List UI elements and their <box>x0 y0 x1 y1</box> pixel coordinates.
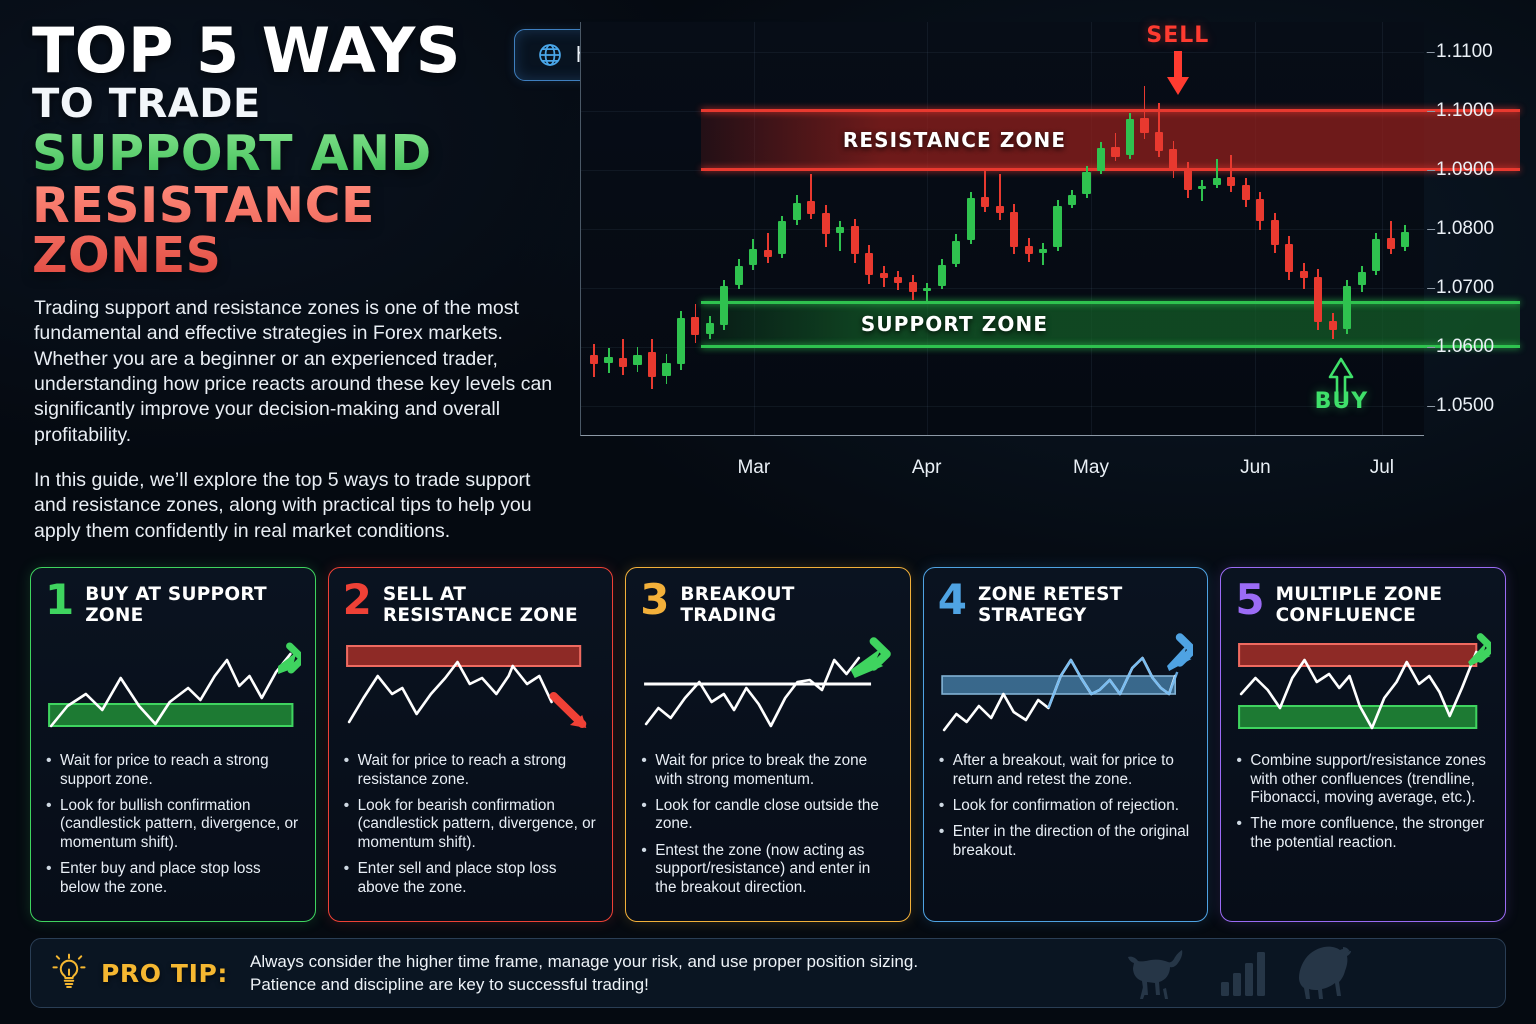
candle-body <box>764 250 772 257</box>
card-bullet: Enter in the direction of the original b… <box>938 823 1194 860</box>
candle-body <box>1213 178 1221 185</box>
card-bullet-list: Wait for price to reach a strong resista… <box>343 752 599 904</box>
chart-gridline-h <box>581 229 1424 230</box>
candle-body <box>1271 220 1279 245</box>
card-bullet: Enter buy and place stop loss below the … <box>45 860 301 897</box>
chart-x-tick: Apr <box>912 457 942 479</box>
candle-body <box>981 197 989 208</box>
chart-y-tick: 1.0900 <box>1436 159 1494 181</box>
intro-paragraph-2: In this guide, we’ll explore the top 5 w… <box>34 468 562 544</box>
chart-gridline-h <box>581 406 1424 407</box>
candle-body <box>938 265 946 286</box>
card-mini-chart <box>343 632 599 744</box>
candle-body <box>1039 249 1047 254</box>
zone-edge <box>701 301 1520 304</box>
candle-body <box>1300 271 1308 278</box>
headline-line-2: TO TRADE <box>32 84 552 125</box>
card-bullet: Look for confirmation of rejection. <box>938 797 1194 815</box>
candle-body <box>894 277 902 283</box>
strategy-card-1[interactable]: 1BUY AT SUPPORT ZONE Wait for price to r… <box>30 567 316 922</box>
chart-x-tick: Jun <box>1240 457 1271 479</box>
card-mini-chart <box>938 632 1194 744</box>
card-bullet: Wait for price to reach a strong resista… <box>343 752 599 789</box>
candle-body <box>1329 321 1337 330</box>
card-title: MULTIPLE ZONE CONFLUENCE <box>1276 582 1491 626</box>
candle-body <box>1169 149 1177 170</box>
card-header: 2SELL AT RESISTANCE ZONE <box>343 582 599 626</box>
strategy-card-4[interactable]: 4ZONE RETEST STRATEGY After a breakout, … <box>923 567 1209 922</box>
candle-body <box>720 286 728 325</box>
candle-body <box>1097 148 1105 170</box>
strategy-card-list: 1BUY AT SUPPORT ZONE Wait for price to r… <box>30 567 1506 922</box>
chart-x-tick: Jul <box>1370 457 1394 479</box>
strategy-card-3[interactable]: 3BREAKOUT TRADING Wait for price to brea… <box>625 567 911 922</box>
card-bullet: Look for bearish confirmation (candlesti… <box>343 797 599 852</box>
candle-body <box>749 249 757 266</box>
headline-line-3: SUPPORT AND <box>32 129 552 179</box>
headline-block: TOP 5 WAYS TO TRADE SUPPORT AND RESISTAN… <box>32 22 552 281</box>
chart-gridline-v <box>1382 22 1383 435</box>
chart-y-tick: 1.0700 <box>1436 277 1494 299</box>
candle-wick <box>926 283 928 304</box>
card-header: 1BUY AT SUPPORT ZONE <box>45 582 301 626</box>
card-bullet-list: Wait for price to break the zone with st… <box>640 752 896 904</box>
zone-edge <box>701 168 1520 171</box>
candle-body <box>1242 185 1250 200</box>
card-bullet: Combine support/resistance zones with ot… <box>1235 752 1491 807</box>
candle-body <box>619 358 627 366</box>
candle-body <box>677 318 685 364</box>
candle-body <box>1082 172 1090 194</box>
candle-body <box>1343 286 1351 328</box>
pro-tip-bar: PRO TIP: Always consider the higher time… <box>30 938 1506 1008</box>
card-bullet: Wait for price to break the zone with st… <box>640 752 896 789</box>
chart-gridline-v <box>1255 22 1256 435</box>
card-title: SELL AT RESISTANCE ZONE <box>383 582 598 626</box>
headline-line-1: TOP 5 WAYS <box>32 22 552 80</box>
card-mini-chart <box>45 632 301 744</box>
bar-chart-icon <box>1219 948 1265 998</box>
globe-icon <box>537 42 563 68</box>
candle-body <box>735 266 743 285</box>
chart-x-tick: May <box>1073 457 1109 479</box>
pro-tip-text: Always consider the higher time frame, m… <box>250 950 918 997</box>
card-title: BUY AT SUPPORT ZONE <box>85 582 300 626</box>
chart-gridline-v <box>927 22 928 435</box>
lightbulb-icon <box>51 953 87 993</box>
candle-body <box>1025 246 1033 254</box>
card-bullet-list: Wait for price to reach a strong support… <box>45 752 301 904</box>
chart-y-tick: 1.1100 <box>1436 41 1493 63</box>
candle-body <box>967 198 975 240</box>
candle-body <box>822 213 830 234</box>
card-bullet: Enter sell and place stop loss above the… <box>343 860 599 897</box>
zone-edge <box>701 345 1520 348</box>
card-title: BREAKOUT TRADING <box>680 582 895 626</box>
card-bullet-list: Combine support/resistance zones with ot… <box>1235 752 1491 860</box>
candle-body <box>778 221 786 254</box>
card-number: 4 <box>938 582 967 619</box>
candle-body <box>793 203 801 221</box>
candle-body <box>1314 277 1322 322</box>
card-header: 4ZONE RETEST STRATEGY <box>938 582 1194 626</box>
candle-body <box>706 323 714 334</box>
candle-body <box>1184 170 1192 190</box>
candle-body <box>1227 177 1235 186</box>
candle-wick <box>1042 243 1044 265</box>
card-bullet-list: After a breakout, wait for price to retu… <box>938 752 1194 868</box>
candle-body <box>836 227 844 233</box>
sell-arrow-icon <box>1165 51 1191 97</box>
candle-body <box>1155 132 1163 151</box>
card-bullet: Look for candle close outside the zone. <box>640 797 896 834</box>
candle-body <box>1358 272 1366 285</box>
intro-paragraph-1: Trading support and resistance zones is … <box>34 296 562 448</box>
candle-body <box>691 317 699 335</box>
candle-body <box>909 282 917 293</box>
candle-body <box>590 355 598 364</box>
card-number: 2 <box>343 582 372 619</box>
intro-text-block: Trading support and resistance zones is … <box>34 296 562 564</box>
headline-line-4: RESISTANCE ZONES <box>32 181 552 281</box>
candle-body <box>662 363 670 376</box>
bull-icon <box>1123 945 1195 1001</box>
candle-wick <box>999 174 1001 220</box>
pro-tip-label: PRO TIP: <box>101 959 228 988</box>
chart-y-tick: 1.1000 <box>1436 100 1494 122</box>
candle-body <box>1053 206 1061 247</box>
pro-tip-line-2: Patience and discipline are key to succe… <box>250 973 918 996</box>
strategy-card-2[interactable]: 2SELL AT RESISTANCE ZONE Wait for price … <box>328 567 614 922</box>
card-bullet: Look for bullish confirmation (candlesti… <box>45 797 301 852</box>
candle-body <box>648 352 656 377</box>
candle-body <box>1372 239 1380 271</box>
candle-body <box>1285 244 1293 272</box>
candle-body <box>1256 199 1264 221</box>
chart-gridline-v <box>1091 22 1092 435</box>
zone-label: RESISTANCE ZONE <box>581 128 1328 152</box>
candle-body <box>1387 238 1395 249</box>
chart-y-tick: 1.0600 <box>1436 336 1494 358</box>
buy-arrow-icon <box>1328 357 1354 403</box>
card-bullet: The more confluence, the stronger the po… <box>1235 815 1491 852</box>
chart-plot-area: RESISTANCE ZONESUPPORT ZONE1.11001.10001… <box>580 22 1424 436</box>
pro-tip-line-1: Always consider the higher time frame, m… <box>250 950 918 973</box>
candle-body <box>1401 232 1409 247</box>
candle-body <box>1010 212 1018 247</box>
candle-wick <box>622 339 624 374</box>
candle-body <box>807 201 815 214</box>
chart-gridline-v <box>754 22 755 435</box>
card-mini-chart <box>640 632 896 744</box>
chart-x-tick: Mar <box>737 457 770 479</box>
strategy-card-5[interactable]: 5MULTIPLE ZONE CONFLUENCE Combine suppor… <box>1220 567 1506 922</box>
candle-body <box>633 355 641 366</box>
card-mini-chart <box>1235 632 1491 744</box>
candle-body <box>1198 186 1206 189</box>
zone-edge <box>701 109 1520 112</box>
chart-gridline-h <box>581 288 1424 289</box>
chart-y-tick: 1.0500 <box>1436 395 1494 417</box>
candle-body <box>1140 118 1148 133</box>
price-chart: RESISTANCE ZONESUPPORT ZONE1.11001.10001… <box>575 18 1520 483</box>
candle-wick <box>767 233 769 263</box>
bear-icon <box>1289 944 1365 1002</box>
card-header: 5MULTIPLE ZONE CONFLUENCE <box>1235 582 1491 626</box>
card-header: 3BREAKOUT TRADING <box>640 582 896 626</box>
card-number: 1 <box>45 582 74 619</box>
card-number: 5 <box>1235 582 1264 619</box>
chart-y-tick: 1.0800 <box>1436 218 1494 240</box>
candle-body <box>923 288 931 292</box>
candle-body <box>1126 119 1134 156</box>
card-title: ZONE RETEST STRATEGY <box>978 582 1193 626</box>
candle-body <box>865 253 873 274</box>
card-bullet: Wait for price to reach a strong support… <box>45 752 301 789</box>
chart-gridline-h <box>581 52 1424 53</box>
candle-wick <box>839 221 841 251</box>
candle-wick <box>1230 155 1232 192</box>
card-bullet: Entest the zone (now acting as support/r… <box>640 842 896 897</box>
candle-body <box>1111 147 1119 156</box>
candle-body <box>880 273 888 278</box>
card-number: 3 <box>640 582 669 619</box>
candle-body <box>604 357 612 363</box>
candle-body <box>851 226 859 254</box>
candle-body <box>952 241 960 263</box>
pro-tip-decoration <box>1123 944 1485 1002</box>
sell-signal-label: SELL <box>1146 23 1209 48</box>
card-bullet: After a breakout, wait for price to retu… <box>938 752 1194 789</box>
candle-body <box>1068 195 1076 204</box>
candle-wick <box>1201 180 1203 201</box>
candle-body <box>996 206 1004 213</box>
